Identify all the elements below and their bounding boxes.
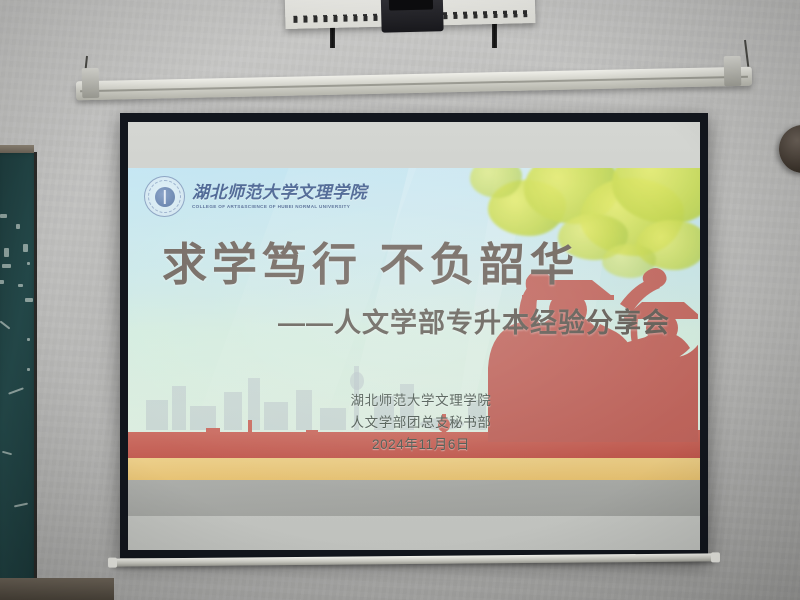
logo-english-name: COLLEGE OF ARTS&SCIENCE OF HUBEI NORMAL … <box>192 204 367 209</box>
emblem-core <box>155 187 175 207</box>
slide-date: 2024年11月6日 <box>306 434 536 456</box>
org-line-1: 湖北师范大学文理学院 <box>306 390 536 412</box>
slide-subtitle: ——人文学部专升本经验分享会 <box>278 310 698 337</box>
screen-bracket-left <box>82 68 100 98</box>
screen-bracket-right <box>724 56 742 86</box>
logo-chinese-name: 湖北师范大学文理学院 <box>192 184 367 202</box>
org-line-2: 人文学部团总支秘书部 <box>306 412 536 434</box>
presentation-slide: 湖北师范大学文理学院 COLLEGE OF ARTS&SCIENCE OF HU… <box>128 168 700 516</box>
screen-bar-cap-right <box>711 552 720 562</box>
university-logo: 湖北师范大学文理学院 COLLEGE OF ARTS&SCIENCE OF HU… <box>144 176 367 217</box>
slide-bottom-band <box>128 480 700 516</box>
slide-gold-band <box>128 458 700 480</box>
projector-lens <box>381 0 444 33</box>
university-emblem-icon <box>144 176 185 217</box>
screen-bar-cap-left <box>108 558 117 568</box>
chalkboard-rail <box>0 145 34 153</box>
chalkboard-ledge <box>0 578 114 600</box>
classroom-scene: 湖北师范大学文理学院 COLLEGE OF ARTS&SCIENCE OF HU… <box>0 0 800 600</box>
chalkboard <box>0 152 37 600</box>
slide-footer-text: 湖北师范大学文理学院 人文学部团总支秘书部 2024年11月6日 <box>306 390 536 456</box>
slide-title: 求学笃行 不负韶华 <box>162 242 682 287</box>
